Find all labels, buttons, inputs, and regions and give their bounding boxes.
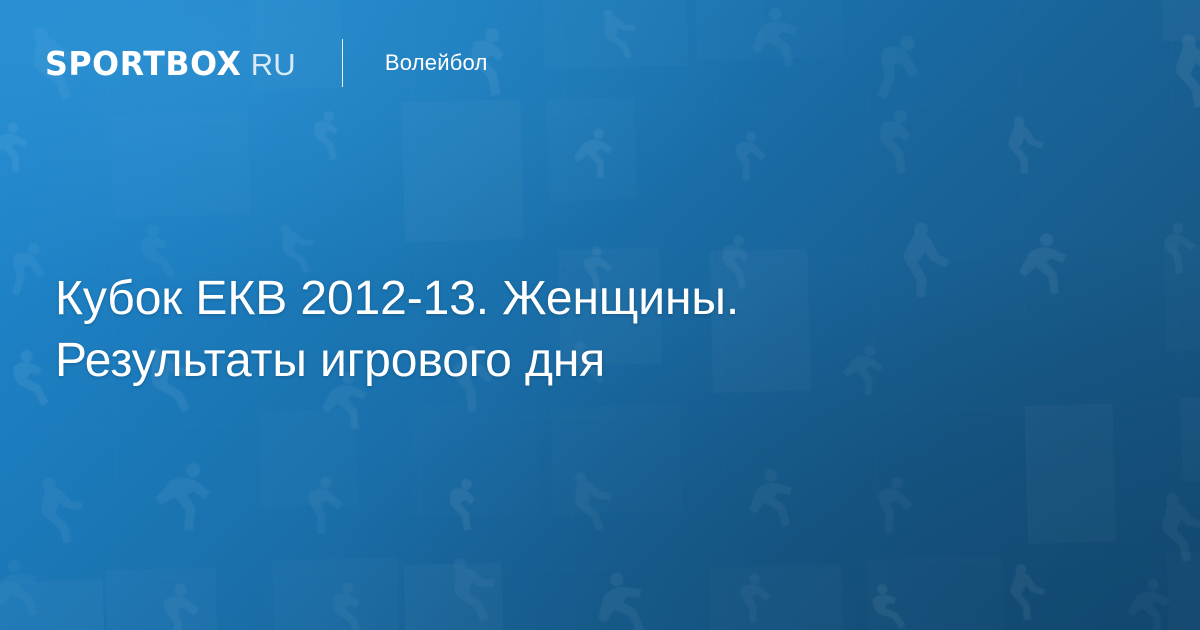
page-title-line-2: Результаты игрового дня bbox=[55, 330, 1135, 392]
vertical-divider-icon bbox=[342, 39, 343, 87]
page-title-line-1: Кубок ЕКВ 2012-13. Женщины. bbox=[55, 268, 1135, 330]
share-card: SPORTBOX RU Волейбол Кубок ЕКВ 2012-13. … bbox=[0, 0, 1200, 630]
logo-wordmark: SPORTBOX bbox=[45, 47, 242, 80]
card-header: SPORTBOX RU Волейбол bbox=[45, 38, 487, 88]
page-title: Кубок ЕКВ 2012-13. Женщины. Результаты и… bbox=[55, 268, 1135, 392]
logo-tld: RU bbox=[251, 49, 296, 80]
section-label-volleyball[interactable]: Волейбол bbox=[385, 50, 488, 76]
sportbox-logo[interactable]: SPORTBOX RU bbox=[45, 47, 296, 80]
